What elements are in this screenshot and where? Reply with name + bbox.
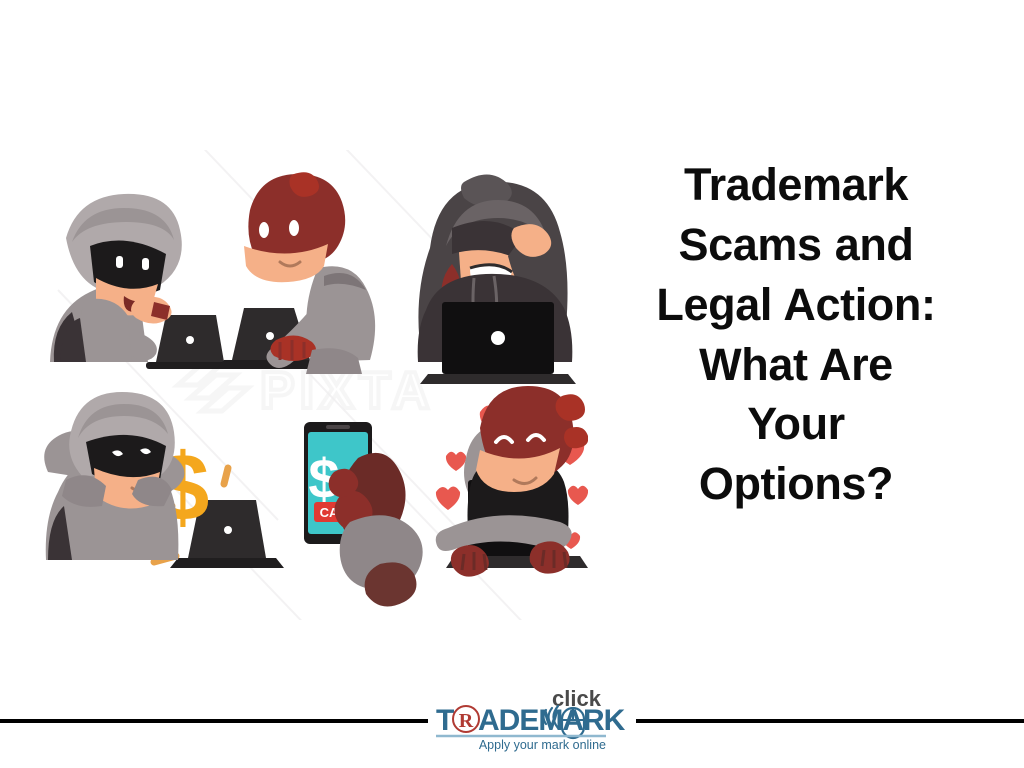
- title-line-2: Scams and: [596, 215, 996, 275]
- slide-canvas: PIXTA: [0, 0, 1024, 768]
- title-line-4: What Are: [596, 335, 996, 395]
- logo-tagline: Apply your mark online: [479, 738, 606, 752]
- title-line-1: Trademark: [596, 155, 996, 215]
- laptop-icon: [420, 302, 576, 384]
- character-hacker-hugging-laptop: [436, 386, 588, 577]
- footer-divider-left: [0, 719, 428, 723]
- pixta-watermark: PIXTA: [178, 362, 434, 420]
- title-line-5: Your: [596, 394, 996, 454]
- character-hacker-typing-gray-hood: [50, 194, 234, 369]
- logo-wordmark-accent-letter: R: [459, 710, 474, 732]
- logo-svg: click T R ADEMARK Apply your mark on: [434, 686, 638, 752]
- logo-wordmark-rest: ADEMARK: [478, 704, 626, 737]
- laptop-icon: [146, 315, 234, 369]
- character-hacker-relaxing-money: $: [44, 392, 284, 568]
- character-hacker-red-balaclava: [216, 172, 375, 374]
- character-hand-holding-phone-cash: $ CASH: [304, 422, 423, 607]
- footer-divider-right: [636, 719, 1024, 723]
- illustration-svg: PIXTA: [28, 150, 588, 620]
- page-title: Trademark Scams and Legal Action: What A…: [596, 155, 996, 514]
- hacker-illustration: PIXTA: [28, 150, 588, 620]
- title-line-3: Legal Action:: [596, 275, 996, 335]
- title-line-6: Options?: [596, 454, 996, 514]
- character-hacker-laughing-dark-hood: [418, 174, 576, 384]
- trademarkclick-logo[interactable]: click T R ADEMARK Apply your mark on: [434, 686, 638, 752]
- logo-wordmark-initial: T: [436, 704, 454, 737]
